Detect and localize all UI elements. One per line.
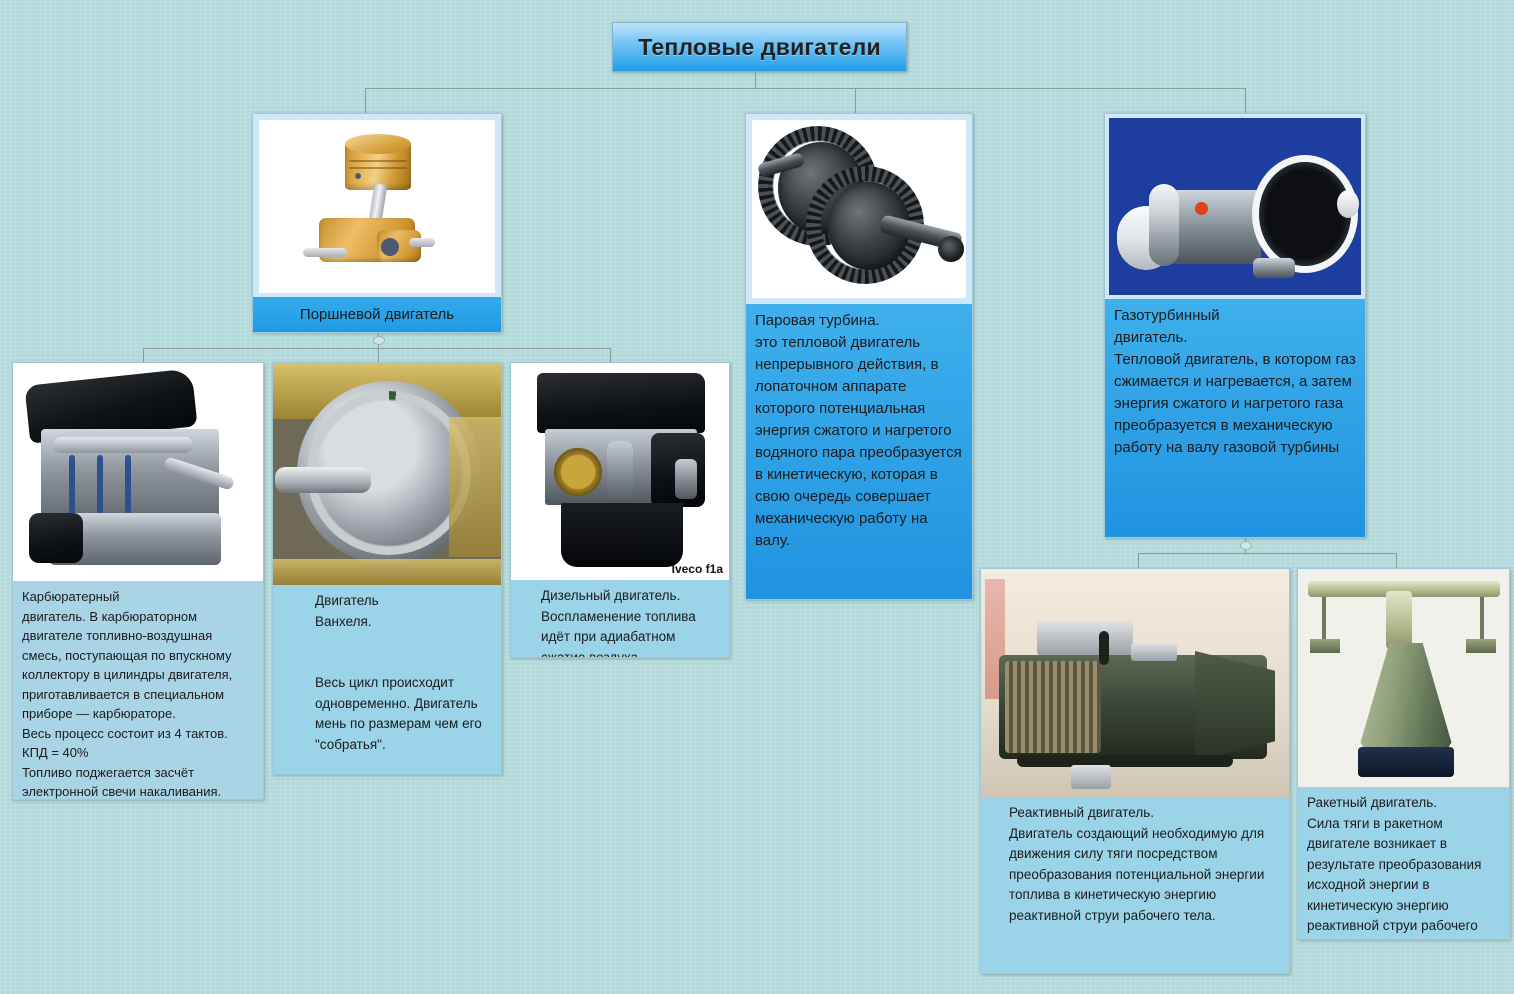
node-gas-turbine[interactable]: Газотурбинный двигатель. Тепловой двигат… <box>1104 113 1366 538</box>
steam-turbine-image-frame <box>746 114 972 304</box>
connector-level3-bus <box>1138 553 1396 554</box>
connector-gas-turbine-node-dot <box>1240 541 1252 550</box>
connector-level2-bus <box>143 348 611 349</box>
node-diesel-engine[interactable]: Iveco f1a Дизельный двигатель. Воспламен… <box>510 362 730 658</box>
diesel-image-frame: Iveco f1a <box>511 363 729 580</box>
connector-to-piston <box>365 88 366 114</box>
gas-turbine-engine-photo <box>1109 118 1361 295</box>
wankel-image-frame <box>273 363 501 585</box>
piston-crankshaft-photo <box>259 120 495 293</box>
jet-image-frame <box>981 569 1289 797</box>
jet-text: Реактивный двигатель. Двигатель создающи… <box>981 797 1289 973</box>
steam-turbine-rotor-photo <box>752 120 966 298</box>
diesel-text: Дизельный двигатель. Воспламенение топли… <box>511 580 729 657</box>
gas-turbine-text: Газотурбинный двигатель. Тепловой двигат… <box>1105 299 1365 537</box>
connector-level1-bus <box>365 88 1246 89</box>
carburetor-image-frame <box>13 363 263 581</box>
node-rocket-engine[interactable]: Ракетный двигатель. Сила тяги в ракетном… <box>1297 568 1510 940</box>
diagram-canvas: Тепловые двигатели Поршневой двигатель <box>0 0 1514 994</box>
steam-turbine-text: Паровая турбина. это тепловой двигатель … <box>746 304 972 599</box>
node-wankel-engine[interactable]: Двигатель Ванхеля. Весь цикл происходит … <box>272 362 502 775</box>
wankel-text: Двигатель Ванхеля. Весь цикл происходит … <box>273 585 501 774</box>
connector-to-rocket <box>1396 553 1397 569</box>
rocket-image-frame <box>1298 569 1509 787</box>
connector-to-wankel <box>378 348 379 363</box>
wankel-rotary-engine-photo <box>273 363 501 585</box>
connector-to-diesel <box>610 348 611 363</box>
carburetor-text: Карбюратерный двигатель. В карбюраторном… <box>13 581 263 799</box>
connector-to-carburetor <box>143 348 144 363</box>
piston-image-frame <box>253 114 501 299</box>
connector-to-gas-turbine <box>1245 88 1246 114</box>
gas-turbine-image-frame <box>1105 114 1365 299</box>
rocket-engine-photo <box>1298 569 1509 787</box>
connector-to-jet <box>1138 553 1139 569</box>
diesel-image-watermark: Iveco f1a <box>672 562 723 576</box>
connector-piston-node-dot <box>373 336 385 345</box>
jet-engine-photo <box>981 569 1289 797</box>
node-piston-engine[interactable]: Поршневой двигатель <box>252 113 502 333</box>
diesel-engine-photo <box>511 363 729 580</box>
page-title: Тепловые двигатели <box>612 22 907 72</box>
connector-to-steam-turbine <box>855 88 856 114</box>
node-steam-turbine[interactable]: Паровая турбина. это тепловой двигатель … <box>745 113 973 600</box>
node-carburetor-engine[interactable]: Карбюратерный двигатель. В карбюраторном… <box>12 362 264 800</box>
carburetor-engine-photo <box>13 363 263 581</box>
piston-caption: Поршневой двигатель <box>253 297 501 332</box>
connector-title-stem <box>755 72 756 88</box>
rocket-text: Ракетный двигатель. Сила тяги в ракетном… <box>1298 787 1509 939</box>
node-jet-engine[interactable]: Реактивный двигатель. Двигатель создающи… <box>980 568 1290 974</box>
